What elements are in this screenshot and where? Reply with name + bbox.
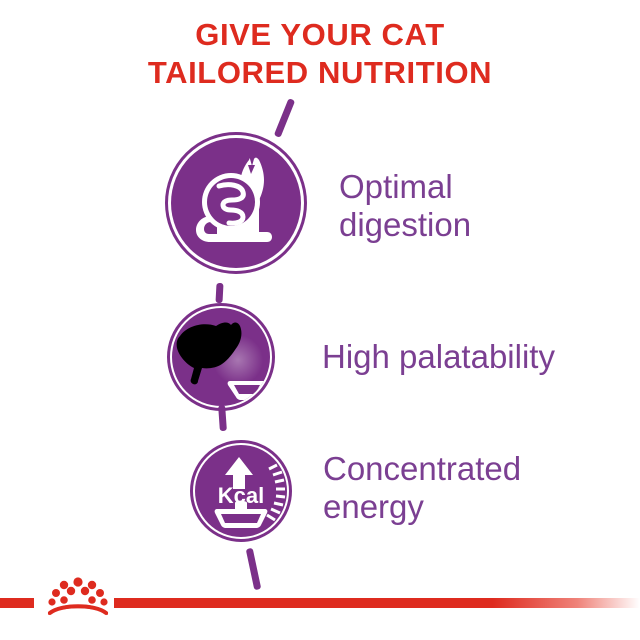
promo-banner: GIVE YOUR CAT TAILORED NUTRITION bbox=[0, 0, 640, 640]
page-title: GIVE YOUR CAT TAILORED NUTRITION bbox=[0, 16, 640, 92]
footer-rule-right bbox=[114, 598, 640, 608]
benefit-2-label: High palatability bbox=[322, 338, 632, 376]
cat-eating-bowl-icon bbox=[172, 308, 270, 406]
connector-dash-top bbox=[274, 98, 295, 138]
connector-dash-bottom bbox=[246, 548, 262, 591]
cat-digestive-system-icon bbox=[171, 138, 301, 268]
svg-text:Kcal: Kcal bbox=[218, 483, 264, 508]
royal-canin-crown-logo bbox=[42, 572, 114, 616]
benefit-3-label: Concentrated energy bbox=[323, 450, 623, 526]
connector-dash-1-2 bbox=[215, 283, 223, 303]
title-line-1: GIVE YOUR CAT bbox=[0, 16, 640, 54]
kcal-arrow-bowl-icon: Kcal bbox=[195, 445, 287, 537]
title-line-2: TAILORED NUTRITION bbox=[0, 54, 640, 92]
footer-rule-left bbox=[0, 598, 34, 608]
benefit-1-label: Optimal digestion bbox=[339, 168, 619, 244]
